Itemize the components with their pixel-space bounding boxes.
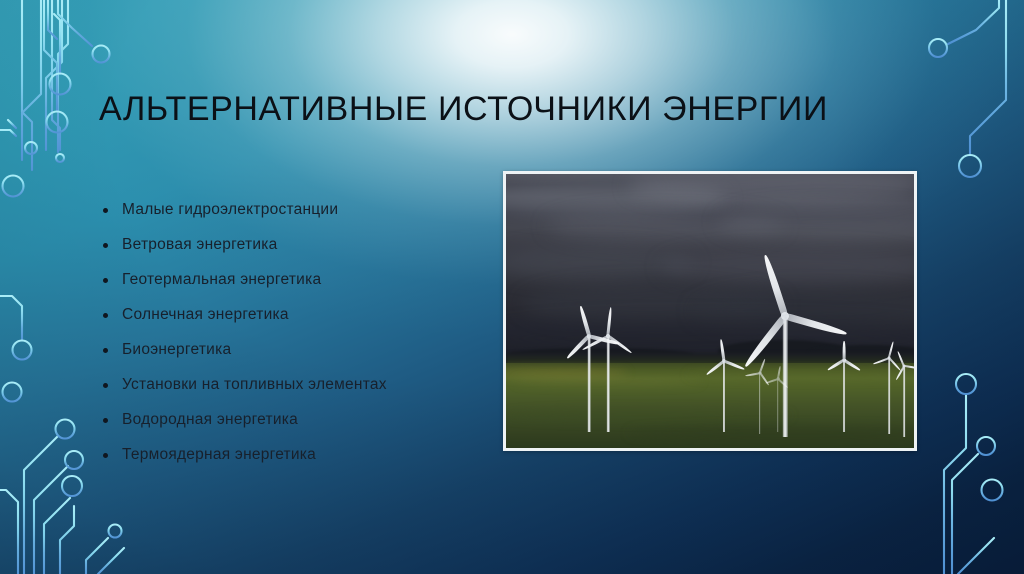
turbine-mast [723,361,725,432]
list-item: Термоядерная энергетика [100,437,470,472]
list-item: Ветровая энергетика [100,227,470,262]
list-item: Водородная энергетика [100,402,470,437]
turbine-mast [588,336,591,431]
turbine-blade [843,341,846,360]
turbine-blade [589,334,620,345]
presentation-slide: АЛЬТЕРНАТИВНЫЕ ИСТОЧНИКИ ЭНЕРГИИ Малые г… [0,0,1024,574]
wind-turbine [559,273,619,432]
wind-farm-photo-frame [503,171,917,451]
turbine-mast [843,360,845,432]
turbine-blade [719,339,725,361]
turbine-blade [843,359,861,371]
turbine-mast [777,379,778,432]
turbine-blade [784,312,847,336]
wind-turbine [887,314,914,437]
turbine-blade [579,306,591,337]
list-item: Малые гидроэлектростанции [100,192,470,227]
list-item: Установки на топливных элементах [100,367,470,402]
turbine-blade [762,254,788,317]
list-item: Биоэнергетика [100,332,470,367]
turbine-blade [566,335,590,360]
turbine-blade [777,378,788,388]
page-title: АЛЬТЕРНАТИВНЫЕ ИСТОЧНИКИ ЭНЕРГИИ [99,88,919,130]
turbine-blade [904,364,914,369]
turbine-mast [904,366,906,438]
bullet-list: Малые гидроэлектростанции Ветровая энерг… [100,192,470,472]
list-item: Геотермальная энергетика [100,262,470,297]
wind-farm-photo [506,174,914,448]
wind-turbine [763,322,793,432]
list-item: Солнечная энергетика [100,297,470,332]
